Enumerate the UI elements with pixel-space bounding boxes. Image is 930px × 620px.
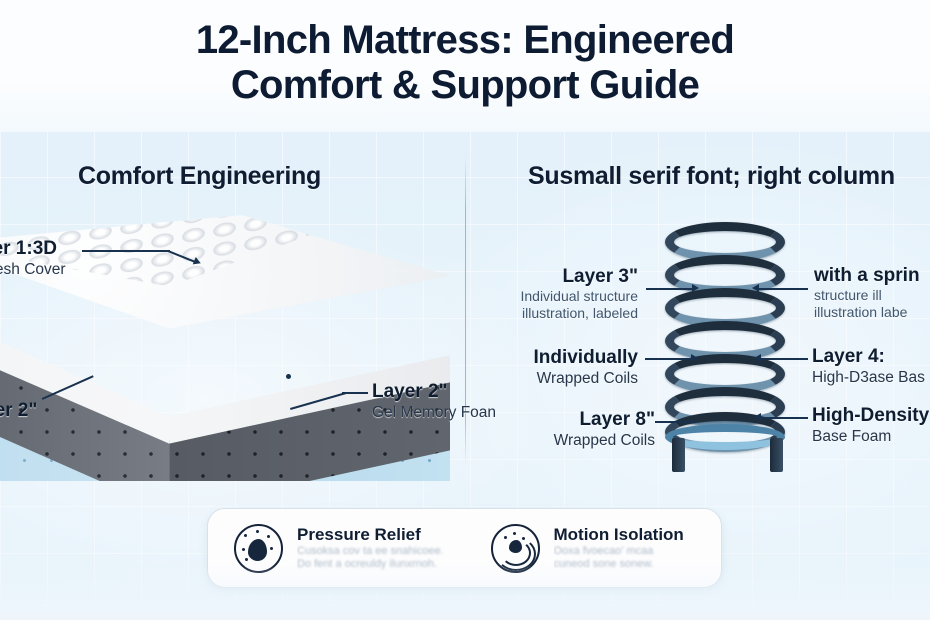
spring-structure-leader-line xyxy=(758,288,808,290)
layer-1-callout: yer 1:3D Mesh Cover xyxy=(0,238,66,279)
layer-4-callout-subtitle: High-D3ase Bas xyxy=(812,368,925,387)
individually-wrapped-coils-callout: Individually Wrapped Coils xyxy=(478,347,638,388)
pressure-spark-5 xyxy=(242,548,245,551)
individually-wrapped-coils-title: Individually xyxy=(478,347,638,369)
page-title: 12-Inch Mattress: Engineered Comfort & S… xyxy=(0,18,930,108)
high-density-base-foam-title: High-Density xyxy=(812,405,929,427)
motion-spark-2 xyxy=(513,532,516,535)
section-header-right-column: Susmall serif font; right column xyxy=(528,162,895,191)
mattress-illustration xyxy=(0,215,470,495)
layer-1-leader-line xyxy=(82,250,170,252)
layer-3-callout-subtitle-2: illustration, labeled xyxy=(483,305,638,322)
layer-8-callout-subtitle: Wrapped Coils xyxy=(500,431,655,450)
spring-structure-callout-subtitle-1: structure ill xyxy=(814,287,920,304)
coil-spring-illustration xyxy=(665,222,785,442)
pressure-spark-3 xyxy=(267,535,270,538)
layer-1-callout-subtitle: Mesh Cover xyxy=(0,260,66,279)
layer-2-right-leader-dot xyxy=(286,374,291,379)
individually-wrapped-coils-subtitle: Wrapped Coils xyxy=(478,369,638,388)
section-header-comfort-engineering: Comfort Engineering xyxy=(78,162,321,191)
layer-2-right-callout-subtitle: Gel Memory Foan xyxy=(372,403,496,422)
pressure-spark-2 xyxy=(256,530,259,533)
layer-4-arrow-icon xyxy=(754,354,761,362)
feature-pressure-relief-title: Pressure Relief xyxy=(297,525,444,545)
infographic-canvas: 12-Inch Mattress: Engineered Comfort & S… xyxy=(0,0,930,620)
layer-8-callout: Layer 8" Wrapped Coils xyxy=(500,409,655,450)
individually-wrapped-coils-arrow-icon xyxy=(691,354,698,362)
coil-spring-leg-left xyxy=(672,438,685,472)
layer-3-leader-line xyxy=(646,288,694,290)
layer-3-callout: Layer 3" Individual structure illustrati… xyxy=(483,266,638,322)
spring-structure-arrow-icon xyxy=(752,284,759,292)
title-line-1: 12-Inch Mattress: Engineered xyxy=(0,18,930,63)
layer-2-left-callout: yer 2" xyxy=(0,400,37,422)
high-density-base-foam-arrow-icon xyxy=(754,413,761,421)
layer-2-left-callout-title: yer 2" xyxy=(0,400,37,422)
layer-3-callout-subtitle-1: Individual structure xyxy=(483,288,638,305)
layer-3-arrow-icon xyxy=(692,284,699,292)
layer-8-leader-line xyxy=(655,421,695,423)
layer-1-callout-title: yer 1:3D xyxy=(0,238,66,260)
spring-structure-callout-subtitle-2: illustration labe xyxy=(814,304,920,321)
spring-structure-callout-title: with a sprin xyxy=(814,265,920,287)
pressure-spark-1 xyxy=(244,534,247,537)
layer-4-leader-line xyxy=(760,358,808,360)
pressure-blob-shape xyxy=(248,539,267,561)
layer-4-callout-title: Layer 4: xyxy=(812,346,925,368)
layer-3-callout-title: Layer 3" xyxy=(483,266,638,288)
high-density-base-foam-callout: High-Density Base Foam xyxy=(812,405,929,446)
coil-spring-leg-right xyxy=(770,438,783,472)
bottom-fade xyxy=(0,564,930,620)
pressure-spark-6 xyxy=(245,558,248,561)
layer-4-callout: Layer 4: High-D3ase Bas xyxy=(812,346,925,387)
high-density-base-foam-leader-line xyxy=(760,417,808,419)
feature-motion-isolation-sub-1: Ooxa fvoecao’ mcaa xyxy=(554,545,684,558)
high-density-base-foam-subtitle: Base Foam xyxy=(812,427,929,446)
title-line-2: Comfort & Support Guide xyxy=(0,63,930,108)
feature-pressure-relief-sub-1: Cusoksa cov ta ee snahicoee. xyxy=(297,545,444,558)
pressure-spark-4 xyxy=(270,547,273,550)
spring-structure-callout: with a sprin structure ill illustration … xyxy=(814,265,920,321)
feature-motion-isolation-title: Motion Isolation xyxy=(554,525,684,545)
individually-wrapped-coils-leader-line xyxy=(645,358,693,360)
layer-8-callout-title: Layer 8" xyxy=(500,409,655,431)
